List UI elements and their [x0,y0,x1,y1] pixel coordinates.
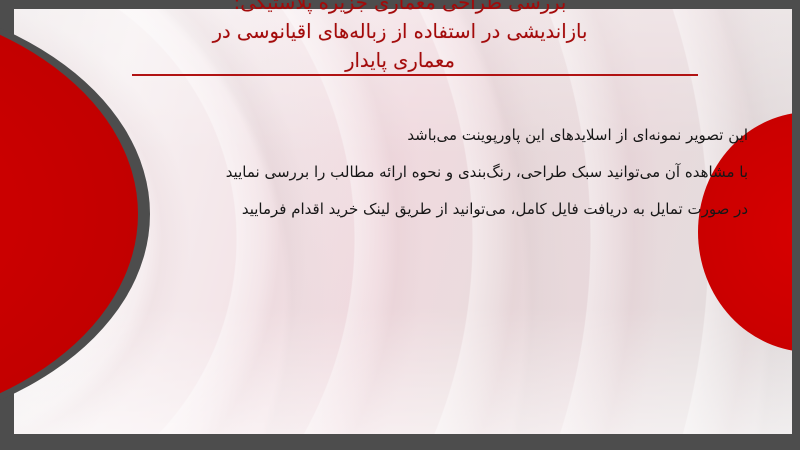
slide-title-line-2: بازاندیشی در استفاده از زباله‌های اقیانو… [100,17,700,46]
slide-body-line-2: با مشاهده آن می‌توانید سبک طراحی، رنگ‌بن… [120,154,748,191]
slide-body-text: این تصویر نمونه‌ای از اسلایدهای این پاور… [120,117,748,228]
slide-title: بررسی طراحی معماری جزیره پلاستیکی: بازان… [0,0,800,75]
title-divider-rule [132,74,698,76]
slide-title-line-1: بررسی طراحی معماری جزیره پلاستیکی: [100,0,700,17]
presentation-slide: بررسی طراحی معماری جزیره پلاستیکی: بازان… [0,0,800,450]
slide-body-line-1: این تصویر نمونه‌ای از اسلایدهای این پاور… [120,117,748,154]
slide-body-line-3: در صورت تمایل به دریافت فایل کامل، می‌تو… [120,191,748,228]
slide-title-line-3: معماری پایدار [100,46,700,75]
